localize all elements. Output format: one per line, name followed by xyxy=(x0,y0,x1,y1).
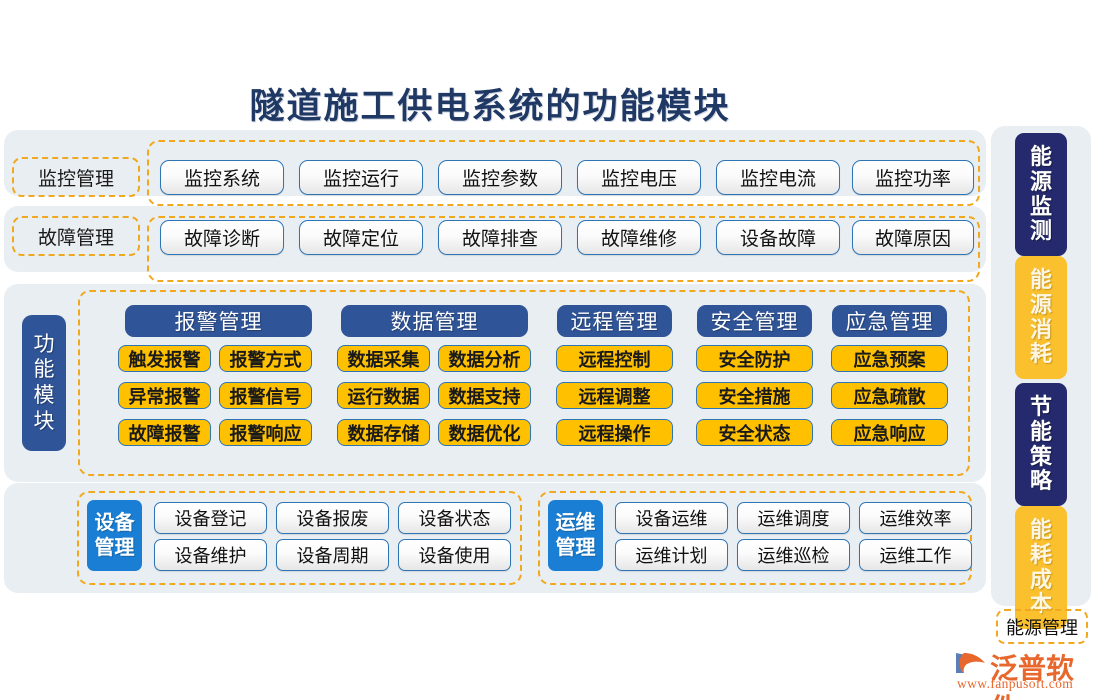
energy-cost-char-3: 成 xyxy=(1030,568,1052,593)
energy-saving-char-2: 能 xyxy=(1030,420,1052,445)
btn-equipment-usage[interactable]: 设备使用 xyxy=(398,539,511,571)
btn-trigger-alarm[interactable]: 触发报警 xyxy=(118,345,211,372)
btn-monitor-system[interactable]: 监控系统 xyxy=(160,160,284,195)
btn-remote-operation[interactable]: 远程操作 xyxy=(556,419,673,446)
btn-fault-alarm[interactable]: 故障报警 xyxy=(118,419,211,446)
btn-equipment-maintenance[interactable]: 设备维护 xyxy=(154,539,267,571)
energy-consumption-char-1: 能 xyxy=(1030,268,1052,293)
energy-saving-char-3: 策 xyxy=(1030,445,1052,470)
equipment-label-line-1: 设备 xyxy=(95,511,135,536)
btn-fault-repair[interactable]: 故障维修 xyxy=(577,220,701,255)
btn-alarm-response[interactable]: 报警响应 xyxy=(219,419,312,446)
btn-operation-data[interactable]: 运行数据 xyxy=(337,382,430,409)
energy-consumption-char-2: 源 xyxy=(1030,293,1052,318)
btn-equipment-cycle[interactable]: 设备周期 xyxy=(276,539,389,571)
btn-monitor-run[interactable]: 监控运行 xyxy=(299,160,423,195)
energy-monitoring-char-4: 测 xyxy=(1030,219,1052,244)
btn-ops-dispatch[interactable]: 运维调度 xyxy=(737,502,850,534)
btn-equipment-fault[interactable]: 设备故障 xyxy=(716,220,840,255)
energy-monitoring-char-2: 源 xyxy=(1030,170,1052,195)
function-module-char-2: 能 xyxy=(34,357,55,383)
function-module-char-1: 功 xyxy=(34,332,55,358)
equipment-label-line-2: 管理 xyxy=(95,536,135,561)
energy-cell-consumption[interactable]: 能 源 消 耗 xyxy=(1015,256,1067,379)
btn-data-analysis[interactable]: 数据分析 xyxy=(438,345,531,372)
btn-emergency-evacuation[interactable]: 应急疏散 xyxy=(831,382,948,409)
energy-cell-monitoring[interactable]: 能 源 监 测 xyxy=(1015,133,1067,256)
btn-ops-efficiency[interactable]: 运维效率 xyxy=(859,502,972,534)
colhead-safety-management[interactable]: 安全管理 xyxy=(697,305,812,337)
ops-label-line-1: 运维 xyxy=(556,511,596,536)
btn-alarm-method[interactable]: 报警方式 xyxy=(219,345,312,372)
btn-equipment-registration[interactable]: 设备登记 xyxy=(154,502,267,534)
ops-label-line-2: 管理 xyxy=(556,536,596,561)
btn-ops-inspection[interactable]: 运维巡检 xyxy=(737,539,850,571)
btn-safety-protection[interactable]: 安全防护 xyxy=(696,345,813,372)
btn-ops-plan[interactable]: 运维计划 xyxy=(615,539,728,571)
colhead-data-management[interactable]: 数据管理 xyxy=(341,305,528,337)
energy-consumption-char-4: 耗 xyxy=(1030,342,1052,367)
btn-remote-adjust[interactable]: 远程调整 xyxy=(556,382,673,409)
btn-equipment-status[interactable]: 设备状态 xyxy=(398,502,511,534)
btn-alarm-signal[interactable]: 报警信号 xyxy=(219,382,312,409)
btn-data-collection[interactable]: 数据采集 xyxy=(337,345,430,372)
group-label-monitoring[interactable]: 监控管理 xyxy=(12,157,140,197)
infographic-root: 隧道施工供电系统的功能模块 监控管理 监控系统 监控运行 监控参数 监控电压 监… xyxy=(0,0,1100,700)
btn-equipment-scrap[interactable]: 设备报废 xyxy=(276,502,389,534)
energy-saving-char-1: 节 xyxy=(1030,395,1052,420)
btn-monitor-params[interactable]: 监控参数 xyxy=(438,160,562,195)
btn-monitor-voltage[interactable]: 监控电压 xyxy=(577,160,701,195)
energy-cost-char-1: 能 xyxy=(1030,518,1052,543)
btn-fault-cause[interactable]: 故障原因 xyxy=(852,220,974,255)
btn-emergency-response[interactable]: 应急响应 xyxy=(831,419,948,446)
group-label-function-module[interactable]: 功 能 模 块 xyxy=(22,315,66,451)
energy-cell-saving-strategy[interactable]: 节 能 策 略 xyxy=(1015,383,1067,506)
group-label-equipment[interactable]: 设备 管理 xyxy=(87,500,142,571)
energy-consumption-char-3: 消 xyxy=(1030,318,1052,343)
group-label-energy-management[interactable]: 能源管理 xyxy=(996,609,1088,644)
btn-safety-status[interactable]: 安全状态 xyxy=(696,419,813,446)
colhead-remote-management[interactable]: 远程管理 xyxy=(557,305,672,337)
energy-monitoring-char-1: 能 xyxy=(1030,145,1052,170)
energy-cost-char-2: 耗 xyxy=(1030,543,1052,568)
group-label-ops[interactable]: 运维 管理 xyxy=(548,500,603,571)
btn-fault-location[interactable]: 故障定位 xyxy=(299,220,423,255)
energy-monitoring-char-3: 监 xyxy=(1030,195,1052,220)
page-title: 隧道施工供电系统的功能模块 xyxy=(0,78,980,129)
colhead-emergency-management[interactable]: 应急管理 xyxy=(832,305,947,337)
btn-fault-troubleshoot[interactable]: 故障排查 xyxy=(438,220,562,255)
logo-name: 泛普软件 xyxy=(990,647,1100,700)
btn-remote-control[interactable]: 远程控制 xyxy=(556,345,673,372)
btn-data-storage[interactable]: 数据存储 xyxy=(337,419,430,446)
btn-equipment-ops[interactable]: 设备运维 xyxy=(615,502,728,534)
function-module-char-4: 块 xyxy=(34,409,55,435)
energy-saving-char-4: 略 xyxy=(1030,469,1052,494)
btn-data-optimization[interactable]: 数据优化 xyxy=(438,419,531,446)
brand-logo: 泛普软件 www.fanpusoft.com xyxy=(952,648,1100,696)
fanpu-logo-icon xyxy=(954,650,988,676)
btn-abnormal-alarm[interactable]: 异常报警 xyxy=(118,382,211,409)
btn-monitor-current[interactable]: 监控电流 xyxy=(716,160,840,195)
group-label-fault[interactable]: 故障管理 xyxy=(12,216,140,256)
btn-safety-measures[interactable]: 安全措施 xyxy=(696,382,813,409)
btn-ops-work[interactable]: 运维工作 xyxy=(859,539,972,571)
function-module-char-3: 模 xyxy=(34,383,55,409)
btn-monitor-power[interactable]: 监控功率 xyxy=(852,160,974,195)
colhead-alarm-management[interactable]: 报警管理 xyxy=(125,305,312,337)
logo-url: www.fanpusoft.com xyxy=(957,676,1073,692)
btn-data-support[interactable]: 数据支持 xyxy=(438,382,531,409)
btn-emergency-plan[interactable]: 应急预案 xyxy=(831,345,948,372)
btn-fault-diagnosis[interactable]: 故障诊断 xyxy=(160,220,284,255)
